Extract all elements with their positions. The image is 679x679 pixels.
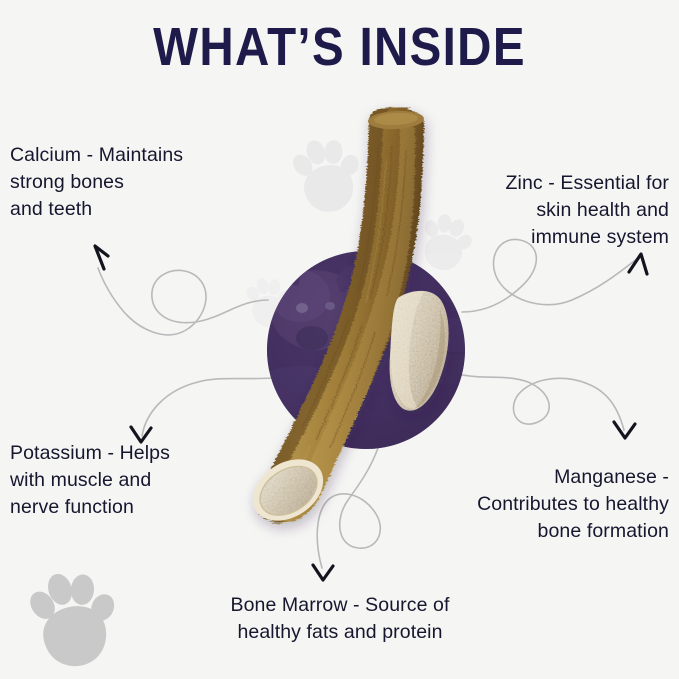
infographic-canvas: WHAT’S INSIDE Calcium - Maintains strong… (0, 0, 679, 679)
product-illustration (0, 0, 679, 679)
